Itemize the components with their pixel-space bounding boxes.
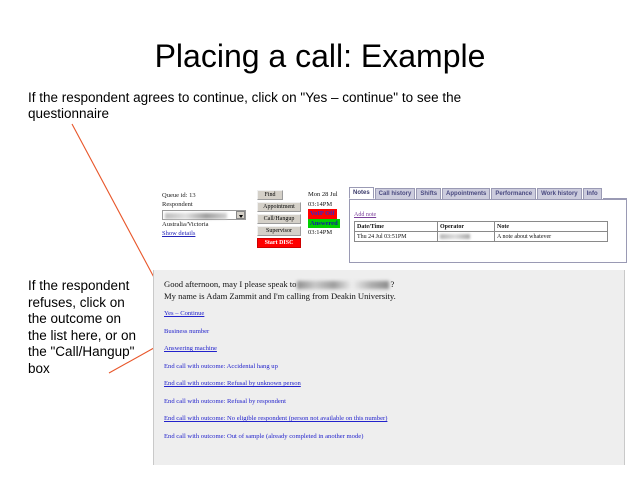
tab-bar-filler — [603, 188, 627, 199]
script-line-1-after: ? — [390, 279, 394, 289]
app-screenshot: Queue id: 13 Respondent Australia/Victor… — [153, 186, 631, 465]
call-hangup-button[interactable]: Call/Hangup — [257, 214, 301, 224]
respondent-value-redacted — [165, 213, 227, 219]
respondent-info-panel: Queue id: 13 Respondent Australia/Victor… — [162, 191, 262, 238]
bullet-left-text: If the respondent refuses, click on the … — [28, 278, 138, 377]
script-line-1-before: Good afternoon, may I please speak to — [164, 279, 296, 289]
appointment-button[interactable]: Appointment — [257, 202, 301, 212]
operator-redacted — [440, 234, 470, 239]
page-title: Placing a call: Example — [0, 38, 640, 75]
add-note-link[interactable]: Add note — [354, 212, 376, 218]
choice-no-eligible-respondent[interactable]: End call with outcome: No eligible respo… — [164, 415, 604, 423]
call-script-area: Good afternoon, may I please speak to? M… — [153, 270, 625, 465]
respondent-name-redacted — [297, 281, 389, 289]
column-header-operator: Operator — [438, 222, 495, 232]
choice-accidental-hangup[interactable]: End call with outcome: Accidental hang u… — [164, 363, 604, 371]
choice-refusal-unknown-person[interactable]: End call with outcome: Refusal by unknow… — [164, 380, 604, 388]
respondent-select[interactable] — [162, 210, 246, 220]
info-tab-panel: Notes Call history Shifts Appointments P… — [349, 188, 627, 263]
supervisor-button[interactable]: Supervisor — [257, 226, 301, 236]
bullet-top-text: If the respondent agrees to continue, cl… — [28, 90, 478, 122]
show-details-link[interactable]: Show details — [162, 229, 262, 238]
script-line-1: Good afternoon, may I please speak to? — [164, 278, 604, 290]
arrow-to-script — [72, 124, 165, 298]
tab-work-history[interactable]: Work history — [537, 188, 582, 199]
cell-operator — [438, 232, 495, 242]
queue-id-label: Queue id: 13 — [162, 191, 262, 200]
timezone-label: Australia/Victoria — [162, 220, 262, 229]
slide-canvas: Placing a call: Example If the responden… — [0, 0, 640, 480]
action-button-column: Find Appointment Call/Hangup Supervisor … — [257, 190, 301, 250]
column-header-note: Note — [495, 222, 608, 232]
choice-yes-continue[interactable]: Yes – Continue — [164, 310, 604, 318]
app-header-area: Queue id: 13 Respondent Australia/Victor… — [153, 186, 631, 270]
tab-appointments[interactable]: Appointments — [442, 188, 490, 199]
respondent-label: Respondent — [162, 200, 262, 209]
tab-performance[interactable]: Performance — [491, 188, 536, 199]
table-row[interactable]: Thu 24 Jul 03:51PM A note about whatever — [355, 232, 608, 242]
tab-notes[interactable]: Notes — [349, 187, 374, 199]
start-disc-button[interactable]: Start DISC — [257, 238, 301, 248]
choice-refusal-respondent[interactable]: End call with outcome: Refusal by respon… — [164, 398, 604, 406]
voip-status-badge: VoIP Off — [308, 209, 337, 219]
choice-answering-machine[interactable]: Answering machine — [164, 345, 604, 353]
cell-note: A note about whatever — [495, 232, 608, 242]
tab-bar: Notes Call history Shifts Appointments P… — [349, 188, 627, 199]
choice-business-number[interactable]: Business number — [164, 328, 604, 336]
notes-tab-content: Add note Date/Time Operator Note Thu 24 … — [349, 199, 627, 263]
find-button[interactable]: Find — [257, 190, 283, 200]
script-line-2: My name is Adam Zammit and I'm calling f… — [164, 290, 604, 302]
outcome-choice-list: Yes – Continue Business number Answering… — [164, 310, 604, 450]
chevron-down-icon[interactable] — [236, 211, 245, 219]
tab-call-history[interactable]: Call history — [375, 188, 416, 199]
column-header-datetime: Date/Time — [355, 222, 438, 232]
script-text: Good afternoon, may I please speak to? M… — [164, 278, 604, 302]
call-status-badge: Answered — [308, 219, 340, 229]
cell-datetime: Thu 24 Jul 03:51PM — [355, 232, 438, 242]
tab-info[interactable]: Info — [583, 188, 602, 199]
tab-shifts[interactable]: Shifts — [416, 188, 441, 199]
table-header-row: Date/Time Operator Note — [355, 222, 608, 232]
choice-out-of-sample[interactable]: End call with outcome: Out of sample (al… — [164, 433, 604, 441]
notes-table: Date/Time Operator Note Thu 24 Jul 03:51… — [354, 221, 608, 242]
